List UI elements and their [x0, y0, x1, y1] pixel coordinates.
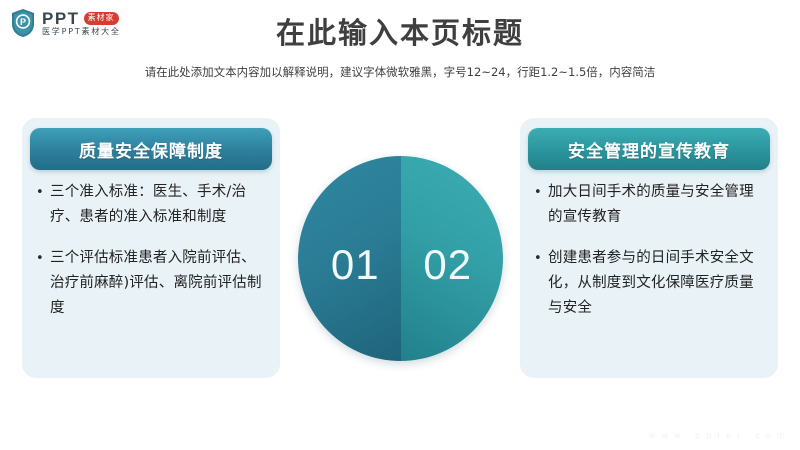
card-header-right-label: 安全管理的宣传教育	[568, 137, 730, 162]
list-item: • 三个准入标准：医生、手术/治疗、患者的准入标准和制度	[36, 180, 268, 230]
circle-half-right: 02	[401, 156, 504, 361]
content-card-left: 质量安全保障制度 • 三个准入标准：医生、手术/治疗、患者的准入标准和制度 • …	[22, 118, 280, 378]
bullet-text: 三个准入标准：医生、手术/治疗、患者的准入标准和制度	[50, 180, 268, 230]
circle-number-02: 02	[423, 244, 472, 286]
bullet-text: 创建患者参与的日间手术安全文化，从制度到文化保障医疗质量与安全	[548, 246, 766, 321]
watermark: w w w . p p t e r . c o m	[649, 430, 786, 440]
page-title: 在此输入本页标题	[0, 16, 800, 51]
bullet-marker-icon: •	[36, 246, 50, 271]
list-item: • 三个评估标准患者入院前评估、治疗前麻醉)评估、离院前评估制度	[36, 246, 268, 321]
card-header-right: 安全管理的宣传教育	[528, 128, 770, 170]
card-header-left: 质量安全保障制度	[30, 128, 272, 170]
bullet-text: 三个评估标准患者入院前评估、治疗前麻醉)评估、离院前评估制度	[50, 246, 268, 321]
circle-half-left: 01	[298, 156, 401, 361]
content-card-right: 安全管理的宣传教育 • 加大日间手术的质量与安全管理的宣传教育 • 创建患者参与…	[520, 118, 778, 378]
center-split-circle: 01 02	[298, 156, 503, 361]
card-header-left-label: 质量安全保障制度	[79, 137, 223, 162]
card-body-right: • 加大日间手术的质量与安全管理的宣传教育 • 创建患者参与的日间手术安全文化，…	[534, 180, 766, 337]
bullet-marker-icon: •	[534, 180, 548, 205]
card-body-left: • 三个准入标准：医生、手术/治疗、患者的准入标准和制度 • 三个评估标准患者入…	[36, 180, 268, 337]
circle-number-01: 01	[331, 244, 380, 286]
list-item: • 加大日间手术的质量与安全管理的宣传教育	[534, 180, 766, 230]
bullet-text: 加大日间手术的质量与安全管理的宣传教育	[548, 180, 766, 230]
page-subtitle: 请在此处添加文本内容加以解释说明，建议字体微软雅黑，字号12~24，行距1.2~…	[0, 64, 800, 80]
slide-canvas: P PPT 素材家 医学PPT素材大全 在此输入本页标题 请在此处添加文本内容加…	[0, 0, 800, 450]
list-item: • 创建患者参与的日间手术安全文化，从制度到文化保障医疗质量与安全	[534, 246, 766, 321]
bullet-marker-icon: •	[534, 246, 548, 271]
bullet-marker-icon: •	[36, 180, 50, 205]
